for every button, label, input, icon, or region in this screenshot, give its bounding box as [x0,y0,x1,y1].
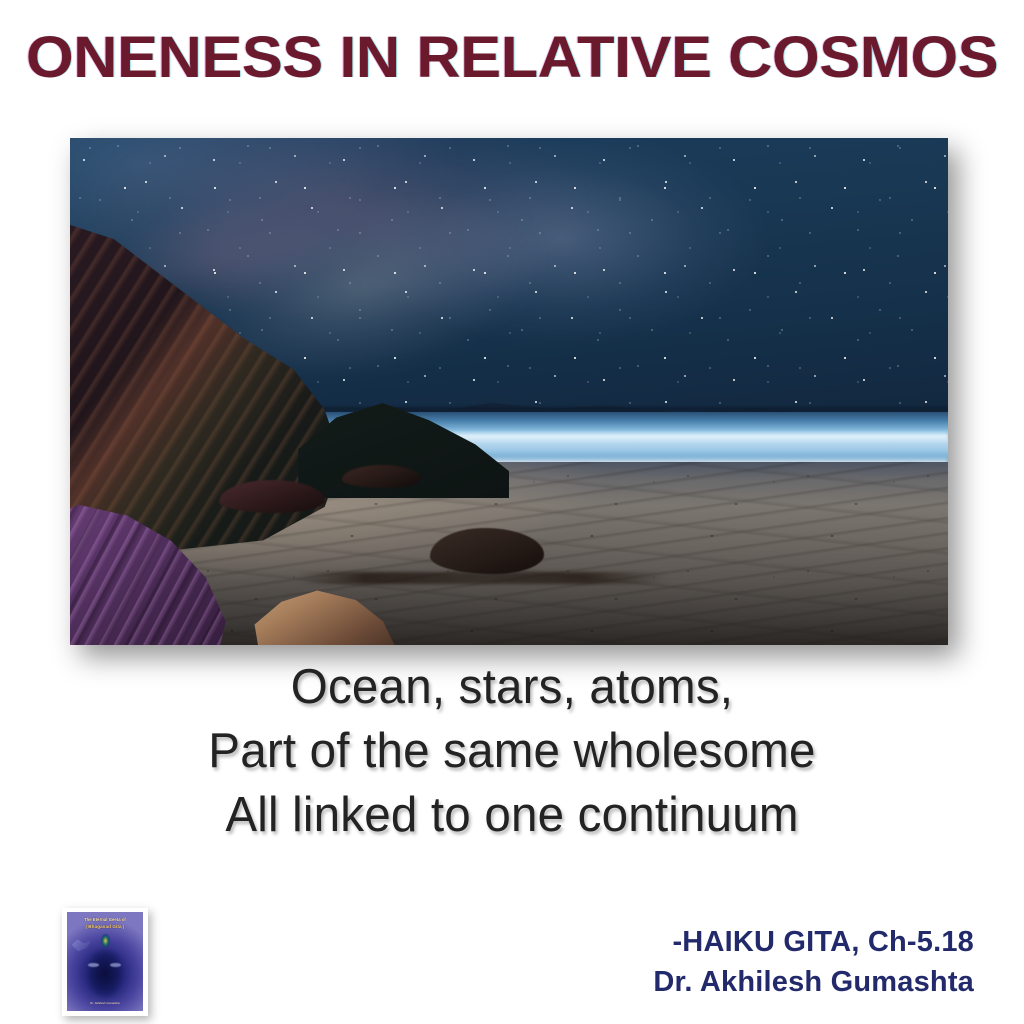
krishna-face-icon [79,948,131,1005]
book-cover-title-line2: | Bhagavad Gita | [73,924,137,930]
attribution-block: -HAIKU GITA, Ch-5.18 Dr. Akhilesh Gumash… [653,922,974,1002]
beach-rock-small [342,465,421,488]
attribution-author: Dr. Akhilesh Gumashta [653,962,974,1002]
book-cover-thumbnail[interactable]: The Eternal Geeta of | Bhagavad Gita | D… [62,908,148,1016]
haiku-line-1: Ocean, stars, atoms, [15,655,1008,719]
page-title: ONENESS IN RELATIVE COSMOS [0,24,1024,91]
photo-scene [70,138,948,645]
attribution-source: -HAIKU GITA, Ch-5.18 [653,922,974,962]
beach-rock-center [430,528,544,574]
poster-canvas: ONENESS IN RELATIVE COSMOS [0,0,1024,1024]
haiku-line-3: All linked to one continuum [15,783,1008,847]
book-cover-title: The Eternal Geeta of | Bhagavad Gita | [73,917,137,930]
beach-rock-medium [219,480,324,513]
haiku-text-block: Ocean, stars, atoms, Part of the same wh… [0,655,1024,847]
seaweed-line [298,572,667,584]
book-cover-author: Dr. Akhilesh Gumashta [75,1002,136,1006]
haiku-line-2: Part of the same wholesome [15,719,1008,783]
hero-photo [70,138,948,645]
book-cover-art: The Eternal Geeta of | Bhagavad Gita | D… [67,912,143,1011]
book-cover-title-line1: The Eternal Geeta of [84,917,126,922]
book-cover-wing-motif-icon [72,938,92,956]
